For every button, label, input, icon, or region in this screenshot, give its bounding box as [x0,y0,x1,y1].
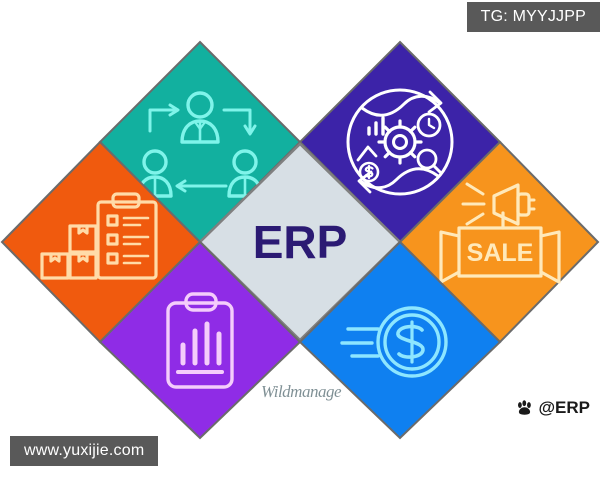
handle-watermark: @ERP [516,398,590,418]
diamond-grid: ERP SALE [0,0,600,480]
baidu-paw-icon [516,400,534,416]
telegram-watermark-badge: TG: MYYJJPP [467,2,600,32]
erp-diagram-canvas: ERP SALE [0,0,600,480]
handle-label: @ERP [538,398,590,418]
center-erp-label: ERP [253,216,348,268]
site-watermark-badge: www.yuxijie.com [10,436,158,466]
sale-banner-label: SALE [467,239,534,267]
